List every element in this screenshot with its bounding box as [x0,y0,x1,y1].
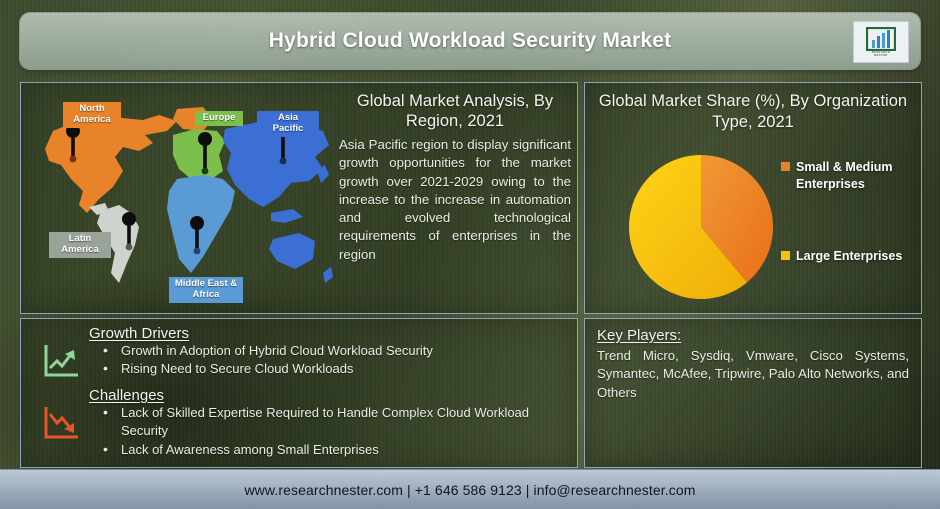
header-bar: Hybrid Cloud Workload Security Market RE… [20,13,920,69]
legend-label-large-enterprises: Large Enterprises [796,248,902,265]
map-label-north-america: North America [63,102,121,128]
list-item: Lack of Awareness among Small Enterprise… [89,441,565,459]
footer-contact-text: www.researchnester.com | +1 646 586 9123… [244,482,695,498]
infographic-root: Hybrid Cloud Workload Security Market RE… [0,0,940,509]
map-region-indonesia [271,209,303,223]
map-region-north-america [45,115,177,213]
market-share-pie-chart [627,153,775,301]
growth-trend-up-icon [41,341,81,381]
list-item: Growth in Adoption of Hybrid Cloud Workl… [89,342,565,360]
footer-bar: www.researchnester.com | +1 646 586 9123… [0,469,940,509]
map-region-australia [269,233,315,269]
challenges-list: Lack of Skilled Expertise Required to Ha… [89,404,565,459]
bar-chart-logo-icon [866,27,896,51]
growth-drivers-heading: Growth Drivers [89,325,565,342]
legend-item-large-enterprises: Large Enterprises [781,248,921,265]
map-label-latin-america: Latin America [49,232,111,258]
pie-legend: Small & Medium Enterprises Large Enterpr… [781,83,921,313]
list-item: Lack of Skilled Expertise Required to Ha… [89,404,565,441]
legend-swatch-yellow-icon [781,251,790,260]
market-share-panel: Global Market Share (%), By Organization… [584,82,922,314]
region-analysis-text: Global Market Analysis, By Region, 2021 … [339,91,571,264]
legend-swatch-orange-icon [781,162,790,171]
region-analysis-panel: North America Europe Asia Pacific Latin … [20,82,578,314]
key-players-body: Trend Micro, Sysdiq, Vmware, Cisco Syste… [597,347,909,402]
key-players-panel: Key Players: Trend Micro, Sysdiq, Vmware… [584,318,922,468]
map-label-europe: Europe [195,111,243,126]
list-item: Rising Need to Secure Cloud Workloads [89,360,565,378]
map-region-new-zealand [323,267,333,283]
key-players-content: Key Players: Trend Micro, Sysdiq, Vmware… [597,327,909,402]
growth-drivers-group: Growth Drivers Growth in Adoption of Hyb… [89,325,565,379]
region-analysis-title: Global Market Analysis, By Region, 2021 [339,91,571,131]
logo-wordmark-line2: NESTER [874,54,888,58]
growth-drivers-list: Growth in Adoption of Hybrid Cloud Workl… [89,342,565,379]
legend-label-small-medium-enterprises: Small & Medium Enterprises [796,159,921,192]
challenges-group: Challenges Lack of Skilled Expertise Req… [89,387,565,459]
drivers-challenges-panel: Growth Drivers Growth in Adoption of Hyb… [20,318,578,468]
map-label-asia-pacific: Asia Pacific [257,111,319,137]
page-title: Hybrid Cloud Workload Security Market [269,29,672,53]
region-analysis-body: Asia Pacific region to display significa… [339,136,571,264]
map-label-middle-east-africa: Middle East & Africa [169,277,243,303]
key-players-heading: Key Players: [597,327,909,344]
challenges-heading: Challenges [89,387,565,404]
decline-trend-down-icon [41,403,81,443]
research-nester-logo: RESEARCH NESTER [853,21,909,63]
legend-item-small-medium-enterprises: Small & Medium Enterprises [781,159,921,192]
world-map: North America Europe Asia Pacific Latin … [27,87,343,307]
